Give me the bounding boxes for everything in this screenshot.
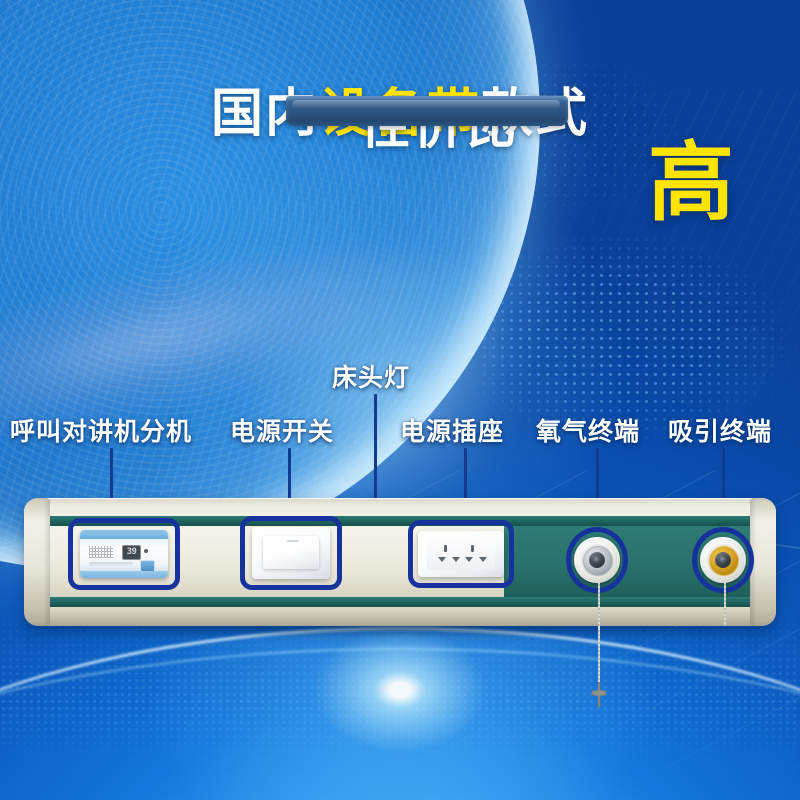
callout-intercom: 呼叫对讲机分机	[10, 412, 192, 448]
hanging-cord	[598, 628, 600, 690]
panel-lower-curve	[50, 607, 750, 626]
callout-power-socket: 电源插座	[400, 412, 504, 448]
callout-suction-terminal: 吸引终端	[668, 412, 772, 448]
highlight-circle-oxygen	[566, 527, 628, 593]
promo-banner: 国内设备带款式 性价比 高 呼叫对讲机分机 电源开关 床头灯 电源插座 氧气终端…	[0, 0, 800, 800]
cord-hook-icon	[589, 682, 609, 708]
panel-stripe-bottom	[50, 597, 750, 607]
callout-power-switch: 电源开关	[230, 412, 334, 448]
callout-oxygen-terminal: 氧气终端	[536, 412, 640, 448]
highlight-box-power-socket	[408, 520, 514, 588]
bed-light-gloss	[292, 100, 560, 109]
highlight-box-power-switch	[240, 516, 342, 590]
suction-terminal-cord	[724, 582, 726, 626]
panel-endcap-left	[24, 498, 50, 626]
highlight-box-intercom	[68, 518, 180, 590]
highlight-circle-suction	[692, 527, 754, 593]
callout-bed-light: 床头灯	[332, 358, 410, 394]
